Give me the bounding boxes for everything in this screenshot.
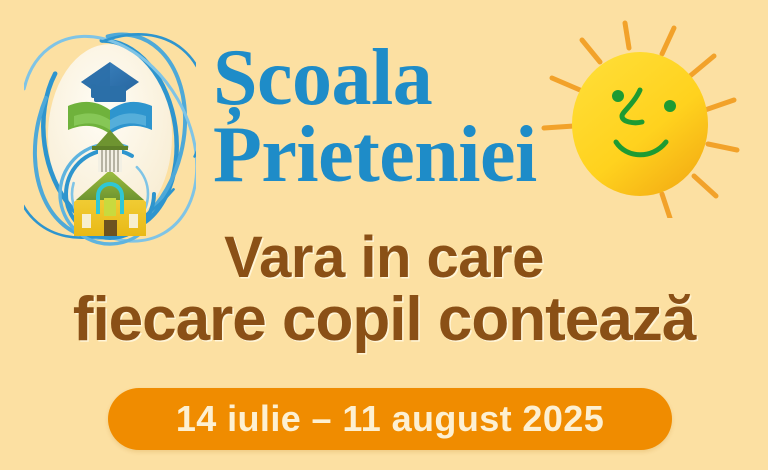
date-badge-label: 14 iulie – 11 august 2025	[176, 398, 604, 440]
date-badge: 14 iulie – 11 august 2025	[108, 388, 672, 450]
promo-banner: Școala Prieteniei Vara in care fiecare c…	[0, 0, 768, 470]
headline-line-2: fiecare copil contează	[0, 288, 768, 352]
headline-line-1: Vara in care	[0, 228, 768, 288]
scoala-prieteniei-emblem-icon	[24, 24, 196, 254]
brand-title-line-1: Școala	[213, 40, 633, 117]
headline: Vara in care fiecare copil contează	[0, 228, 768, 353]
brand-title-line-2: Prieteniei	[213, 117, 633, 194]
page-title: Școala Prieteniei	[213, 40, 633, 194]
